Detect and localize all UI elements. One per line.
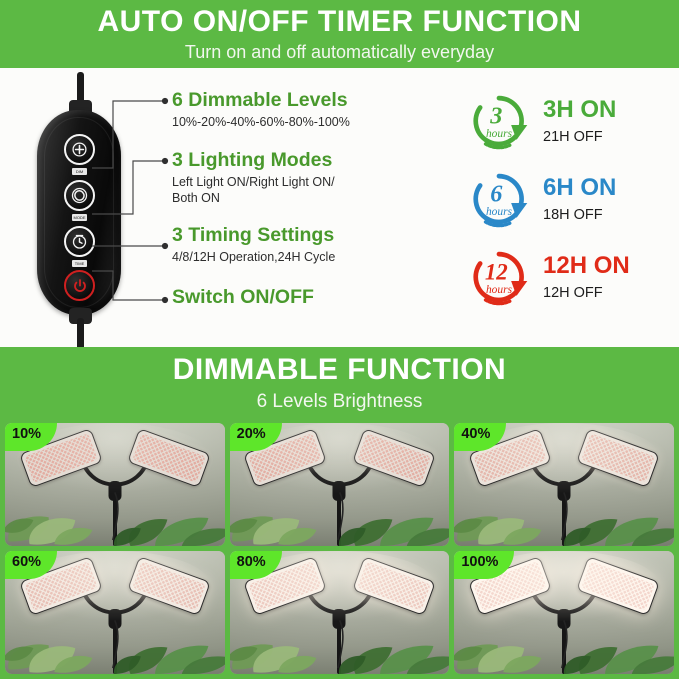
brightness-plus-button[interactable]	[64, 134, 95, 165]
brightness-level-grid: 10% 20% 40% 60% 80% 100%	[0, 418, 679, 679]
timer-clock-icon	[71, 233, 88, 250]
timer-off-label: 21H OFF	[543, 130, 616, 145]
plant-right	[335, 615, 449, 674]
plant-left	[5, 617, 115, 674]
timer-off-label: 12H OFF	[543, 286, 630, 301]
plant-right	[110, 615, 224, 674]
timer-hours-unit: hours	[486, 284, 513, 296]
feature-item-lighting-modes: 3 Lighting Modes Left Light ON/Right Lig…	[172, 150, 335, 206]
header-title: AUTO ON/OFF TIMER FUNCTION	[97, 7, 581, 37]
feature-item-switch-on-off: Switch ON/OFF	[172, 287, 314, 307]
timer-3-hours-icon: 3 hours	[465, 90, 533, 152]
dimmable-title: DIMMABLE FUNCTION	[173, 355, 506, 385]
header-banner: AUTO ON/OFF TIMER FUNCTION Turn on and o…	[0, 0, 679, 68]
brightness-cell[interactable]: 40%	[454, 423, 674, 546]
timer-on-label: 6H ON	[543, 176, 616, 200]
feature-title: 6 Dimmable Levels	[172, 90, 350, 110]
plant-right	[335, 487, 449, 546]
brightness-cell[interactable]: 100%	[454, 551, 674, 674]
timer-button-label: TIME	[72, 260, 87, 267]
timer-text-block: 6H ON 18H OFF	[543, 176, 616, 223]
feature-title: Switch ON/OFF	[172, 287, 314, 307]
lighting-mode-button[interactable]	[64, 180, 95, 211]
header-subtitle: Turn on and off automatically everyday	[185, 43, 494, 61]
plant-right	[560, 487, 674, 546]
led-grow-light-controller: DIM MODE TI	[27, 72, 132, 347]
lighting-mode-icon	[71, 187, 88, 204]
plant-right	[560, 615, 674, 674]
timer-button[interactable]	[64, 226, 95, 257]
brightness-cell[interactable]: 80%	[230, 551, 450, 674]
plant-left	[454, 617, 564, 674]
feature-title: 3 Lighting Modes	[172, 150, 335, 170]
feature-description: Left Light ON/Right Light ON/ Both ON	[172, 174, 335, 206]
timer-hours-unit: hours	[486, 206, 513, 218]
plus-icon	[72, 142, 87, 157]
feature-item-timing-settings: 3 Timing Settings 4/8/12H Operation,24H …	[172, 225, 335, 265]
timer-6-hours-icon: 6 hours	[465, 168, 533, 230]
timer-hours-number: 3	[489, 103, 502, 130]
timer-text-block: 3H ON 21H OFF	[543, 98, 616, 145]
feature-panel: DIM MODE TI	[0, 68, 679, 347]
brightness-cell[interactable]: 10%	[5, 423, 225, 546]
power-icon	[72, 278, 88, 294]
dimmable-subtitle: 6 Levels Brightness	[257, 392, 423, 411]
plant-left	[5, 489, 115, 546]
plant-left	[230, 617, 340, 674]
plant-left	[230, 489, 340, 546]
timer-hours-number: 6	[490, 181, 503, 208]
timer-12-hours-icon: 12 hours	[465, 246, 533, 308]
power-button[interactable]	[64, 270, 95, 301]
timer-option-3h: 3 hours 3H ON 21H OFF	[465, 90, 616, 152]
timer-option-6h: 6 hours 6H ON 18H OFF	[465, 168, 616, 230]
timer-on-label: 12H ON	[543, 254, 630, 278]
feature-title: 3 Timing Settings	[172, 225, 335, 245]
plant-left	[454, 489, 564, 546]
feature-description: 4/8/12H Operation,24H Cycle	[172, 249, 335, 265]
brightness-cell[interactable]: 20%	[230, 423, 450, 546]
timer-option-12h: 12 hours 12H ON 12H OFF	[465, 246, 630, 308]
controller-body: DIM MODE TI	[37, 110, 121, 315]
mode-button-label: MODE	[72, 214, 87, 221]
dimmable-banner: DIMMABLE FUNCTION 6 Levels Brightness	[0, 347, 679, 418]
feature-item-dimmable-levels: 6 Dimmable Levels 10%-20%-40%-60%-80%-10…	[172, 90, 350, 130]
timer-hours-unit: hours	[486, 128, 513, 140]
product-infographic: AUTO ON/OFF TIMER FUNCTION Turn on and o…	[0, 0, 679, 679]
timer-on-label: 3H ON	[543, 98, 616, 122]
timer-text-block: 12H ON 12H OFF	[543, 254, 630, 301]
dim-button-label: DIM	[72, 168, 87, 175]
timer-hours-number: 12	[485, 260, 508, 285]
timer-off-label: 18H OFF	[543, 208, 616, 223]
feature-description: 10%-20%-40%-60%-80%-100%	[172, 114, 350, 130]
brightness-cell[interactable]: 60%	[5, 551, 225, 674]
plant-right	[110, 487, 224, 546]
